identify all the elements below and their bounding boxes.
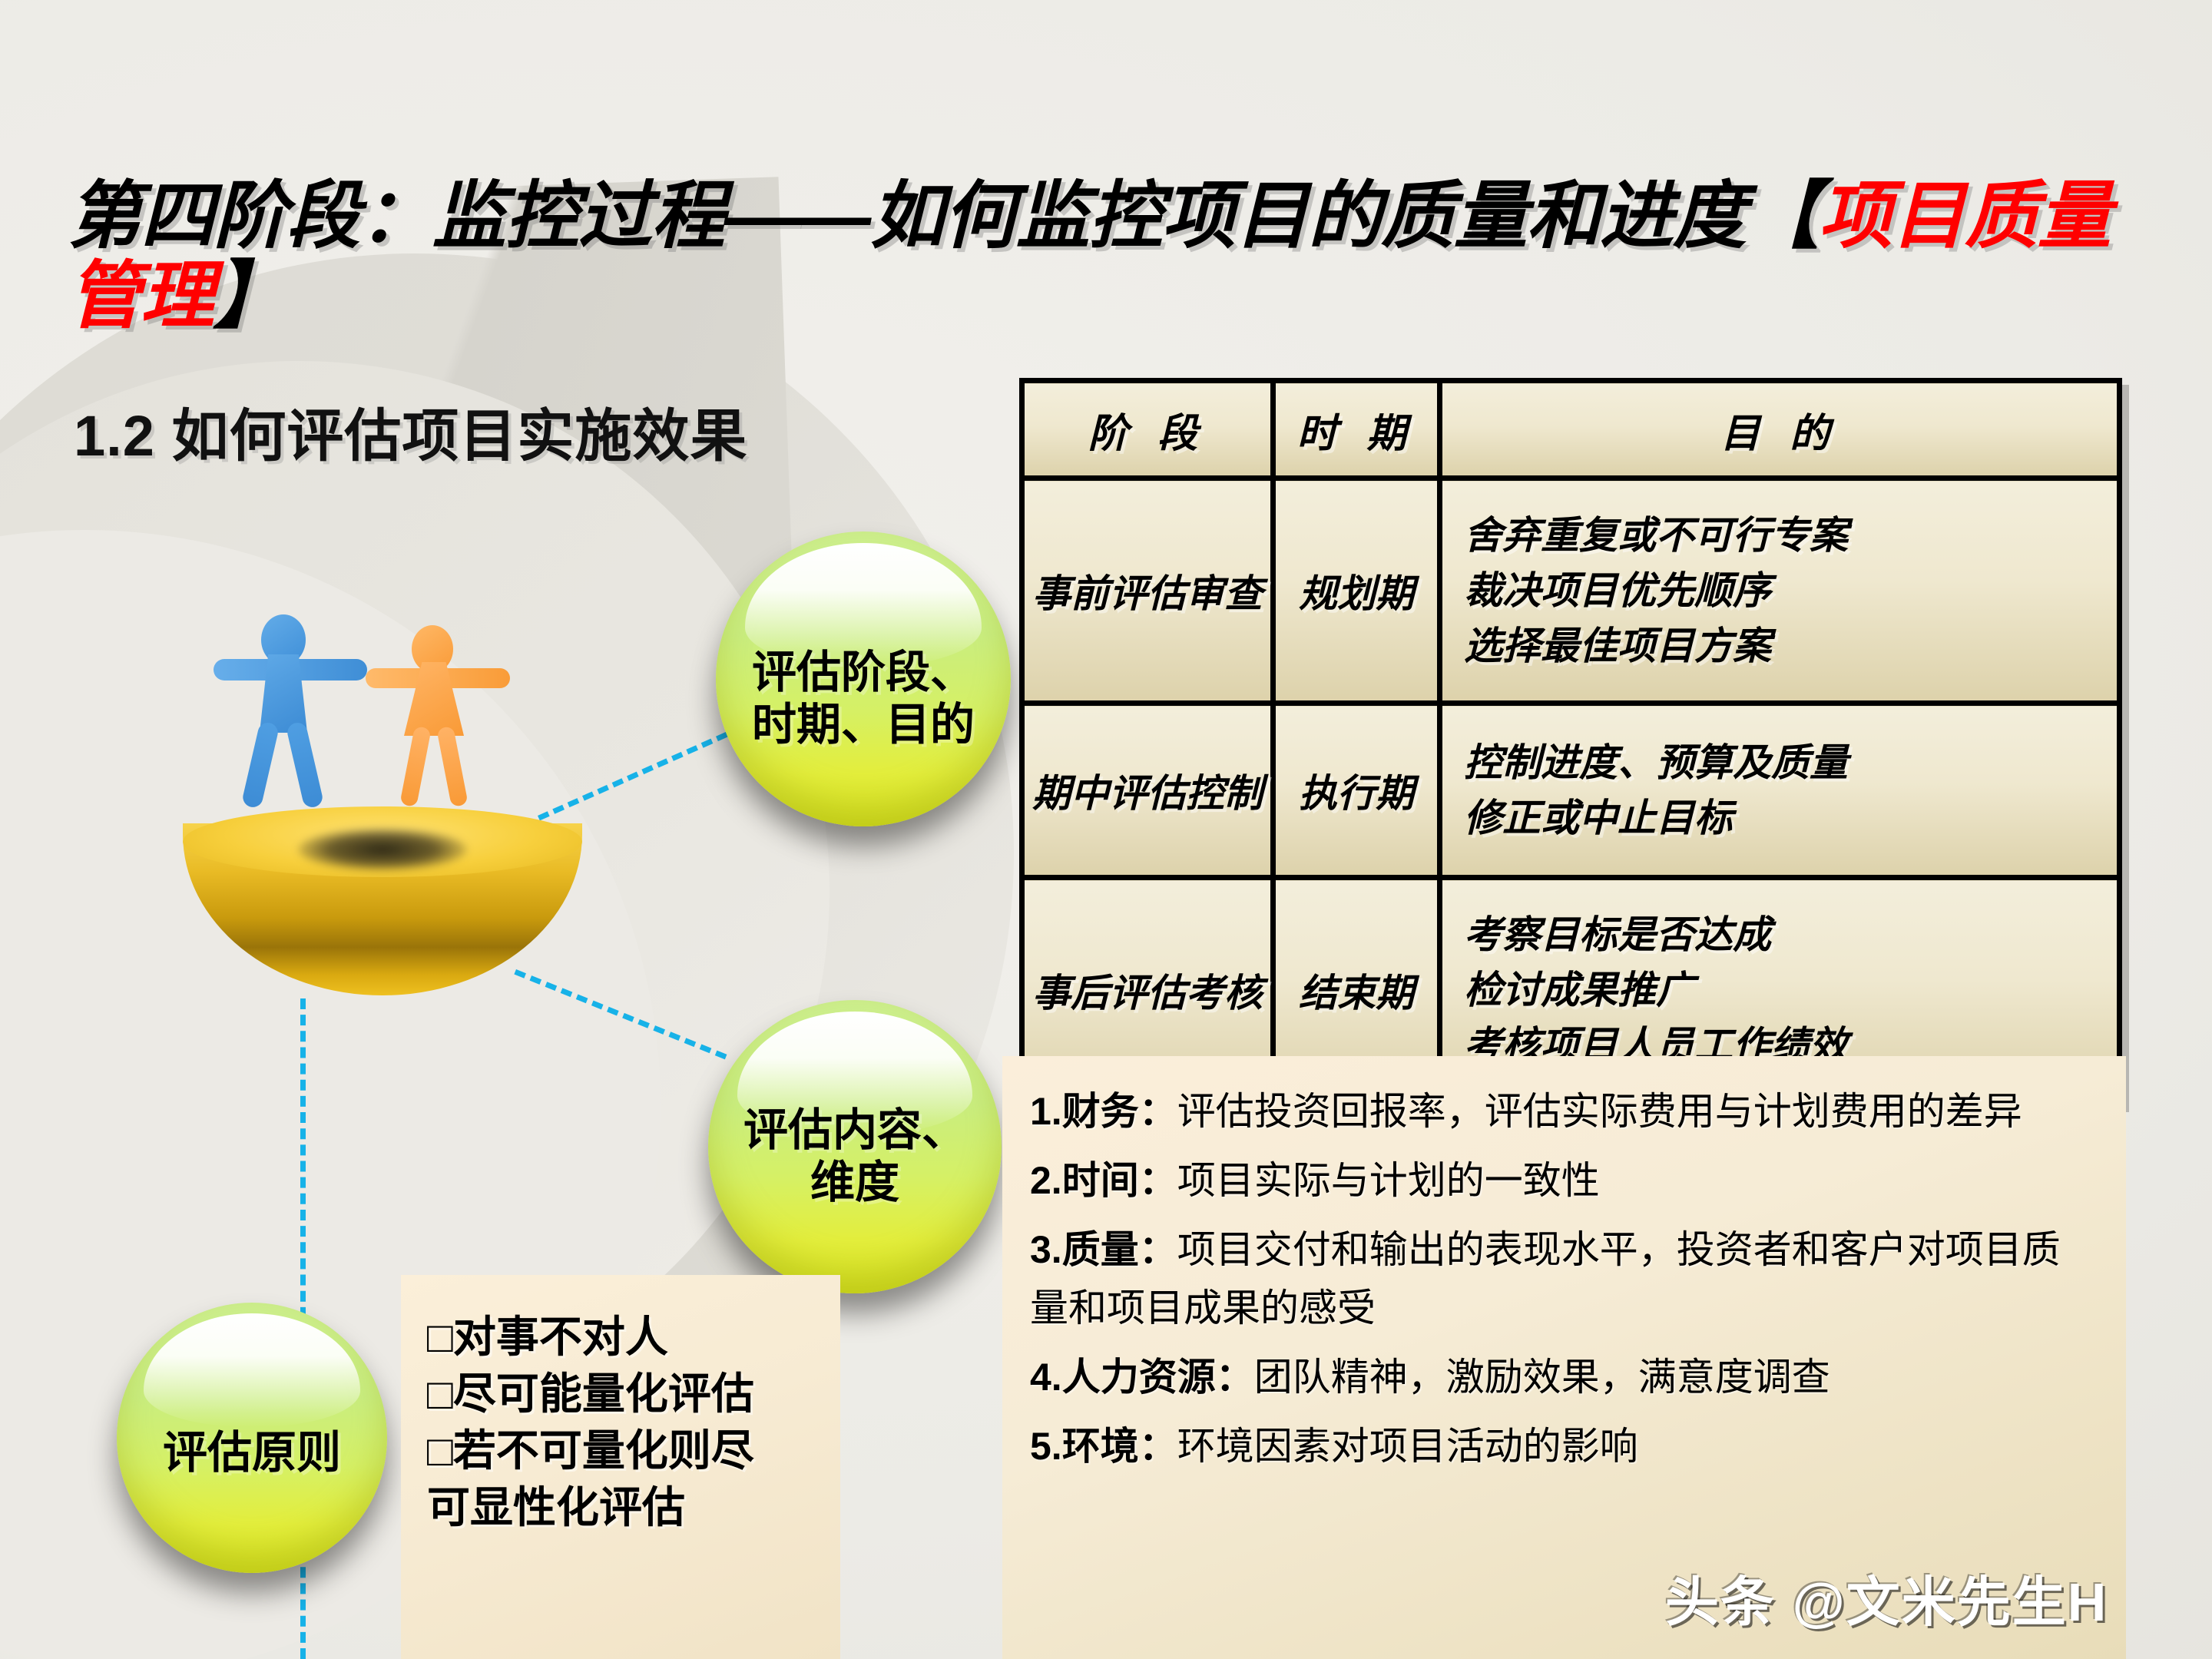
golden-dome-graphic: [183, 806, 582, 998]
female-leg-right: [436, 726, 468, 807]
principles-box: □对事不对人 □尽可能量化评估 □若不可量化则尽 可显性化评估: [401, 1275, 840, 1659]
item-3-text: 项目交付和输出的表现水平，投资者和客户对项目质量和项目成果的感受: [1030, 1228, 2061, 1330]
principle-line-4: 可显性化评估: [427, 1479, 820, 1536]
row-1-stage: 事前评估审查: [1022, 478, 1273, 704]
item-3-label: 3.质量：: [1030, 1228, 1177, 1271]
table-row: 期中评估控制 执行期 控制进度、预算及质量 修正或中止目标: [1022, 704, 2120, 878]
sphere-evaluation-content[interactable]: 评估内容、 维度: [708, 1000, 1002, 1293]
list-item: 1.财务：评估投资回报率，评估实际费用与计划费用的差异: [1030, 1082, 2095, 1141]
title-prefix: 第四阶段：监控过程——如何监控项目的质量和进度【: [68, 175, 1819, 257]
item-2-text: 项目实际与计划的一致性: [1177, 1159, 1600, 1202]
female-leg-left: [399, 726, 431, 807]
slide-canvas: 第四阶段：监控过程——如何监控项目的质量和进度【项目质量管理】 1.2 如何评估…: [0, 0, 2212, 1659]
dome-center-shadow: [298, 828, 467, 871]
list-item: 2.时间：项目实际与计划的一致性: [1030, 1151, 2095, 1210]
sphere-evaluation-stage[interactable]: 评估阶段、 时期、目的: [716, 531, 1011, 826]
principle-line-3: □若不可量化则尽: [427, 1422, 820, 1479]
sphere-evaluation-principle[interactable]: 评估原则: [117, 1303, 387, 1573]
row-2-stage: 期中评估控制: [1022, 704, 1273, 878]
item-5-label: 5.环境：: [1030, 1425, 1177, 1468]
male-leg-left: [241, 721, 280, 810]
table-row: 事前评估审查 规划期 舍弃重复或不可行专案 裁决项目优先顺序 选择最佳项目方案: [1022, 478, 2120, 704]
sphere-3-label: 评估原则: [149, 1427, 355, 1479]
row-1-purpose: 舍弃重复或不可行专案 裁决项目优先顺序 选择最佳项目方案: [1440, 478, 2120, 704]
item-1-label: 1.财务：: [1030, 1090, 1177, 1133]
sphere-2-label: 评估内容、 维度: [730, 1104, 980, 1210]
table-header-row: 阶 段 时 期 目 的: [1022, 381, 2120, 478]
row-2-period: 执行期: [1273, 704, 1440, 878]
item-5-text: 环境因素对项目活动的影响: [1177, 1425, 1638, 1468]
table-header-stage: 阶 段: [1022, 381, 1273, 478]
list-item: 4.人力资源：团队精神，激励效果，满意度调查: [1030, 1348, 2095, 1406]
item-2-label: 2.时间：: [1030, 1159, 1177, 1202]
page-subtitle: 1.2 如何评估项目实施效果: [74, 390, 747, 472]
principle-line-1: □对事不对人: [427, 1309, 820, 1366]
item-4-label: 4.人力资源：: [1030, 1356, 1254, 1399]
row-1-period: 规划期: [1273, 478, 1440, 704]
title-suffix: 】: [214, 255, 286, 337]
table-header-period: 时 期: [1273, 381, 1440, 478]
evaluation-stage-table: 阶 段 时 期 目 的 事前评估审查 规划期 舍弃重复或不可行专案 裁决项目优先…: [1019, 378, 2122, 1105]
watermark-label: 头条 @文米先生H: [1665, 1559, 2108, 1637]
list-item: 5.环境：环境因素对项目活动的影响: [1030, 1417, 2095, 1475]
male-leg-right: [286, 721, 325, 810]
principle-line-2: □尽可能量化评估: [427, 1366, 820, 1422]
row-2-purpose: 控制进度、预算及质量 修正或中止目标: [1440, 704, 2120, 878]
page-title: 第四阶段：监控过程——如何监控项目的质量和进度【项目质量管理】: [68, 177, 2141, 336]
item-4-text: 团队精神，激励效果，满意度调查: [1254, 1356, 1830, 1399]
sphere-1-label: 评估阶段、 时期、目的: [738, 647, 988, 752]
list-item: 3.质量：项目交付和输出的表现水平，投资者和客户对项目质量和项目成果的感受: [1030, 1220, 2095, 1337]
item-1-text: 评估投资回报率，评估实际费用与计划费用的差异: [1177, 1090, 2022, 1133]
table-header-purpose: 目 的: [1440, 381, 2120, 478]
